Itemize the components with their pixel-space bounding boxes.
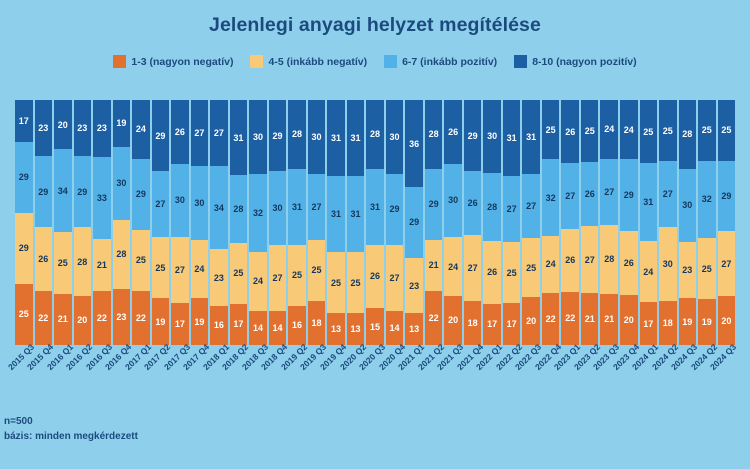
bar-segment-pos: 27 — [522, 174, 540, 238]
legend-item-label: 6-7 (inkább pozitív) — [402, 56, 497, 68]
bar-segment-neg: 24 — [249, 252, 267, 311]
bar-segment-neg: 26 — [620, 231, 638, 295]
bar-column[interactable]: 25292720 — [717, 100, 737, 345]
bar-segment-pos: 31 — [366, 169, 384, 245]
bar-column[interactable]: 25312417 — [639, 100, 659, 345]
bar-column[interactable]: 28292122 — [424, 100, 444, 345]
x-axis-tick: 2020 Q4 — [385, 345, 405, 407]
x-axis-tick: 2023 Q1 — [560, 345, 580, 407]
bar-segment-vpos: 23 — [35, 100, 53, 156]
bar-column[interactable]: 24272821 — [599, 100, 619, 345]
bar-segment-pos: 31 — [327, 176, 345, 252]
bar-segment-pos: 26 — [464, 171, 482, 235]
bar-segment-vpos: 25 — [718, 100, 736, 161]
bar-column[interactable]: 28312615 — [365, 100, 385, 345]
bar-segment-vpos: 25 — [659, 100, 677, 161]
bar-segment-pos: 30 — [444, 164, 462, 238]
x-axis-tick: 2021 Q2 — [424, 345, 444, 407]
bar-column[interactable]: 23332122 — [92, 100, 112, 345]
bar-segment-vneg: 17 — [503, 303, 521, 345]
bar-segment-vneg: 14 — [269, 311, 287, 345]
bar-segment-vpos: 20 — [54, 100, 72, 149]
x-axis-tick: 2019 Q4 — [326, 345, 346, 407]
bar-segment-vneg: 19 — [679, 298, 697, 345]
bar-segment-vpos: 31 — [230, 100, 248, 175]
bar-segment-vneg: 17 — [640, 302, 658, 345]
bar-segment-vneg: 19 — [152, 298, 170, 345]
x-axis-tick: 2018 Q4 — [268, 345, 288, 407]
bar-segment-neg: 26 — [483, 241, 501, 304]
bar-column[interactable]: 25322519 — [697, 100, 717, 345]
bar-segment-pos: 31 — [288, 169, 306, 245]
bar-segment-neg: 30 — [659, 227, 677, 301]
legend-item-vneg[interactable]: 1-3 (nagyon negatív) — [113, 55, 233, 68]
bar-segment-vpos: 28 — [366, 100, 384, 169]
bar-segment-neg: 26 — [35, 227, 53, 291]
bar-segment-vneg: 22 — [561, 292, 579, 345]
x-axis-tick: 2023 Q2 — [580, 345, 600, 407]
x-axis-tick: 2018 Q3 — [248, 345, 268, 407]
bar-column[interactable]: 29262718 — [463, 100, 483, 345]
bar-segment-neg: 25 — [132, 230, 150, 291]
bar-segment-vpos: 29 — [269, 100, 287, 171]
bar-segment-vpos: 25 — [698, 100, 716, 161]
bar-segment-neg: 25 — [54, 232, 72, 293]
bar-segment-neg: 24 — [640, 241, 658, 302]
bar-segment-vneg: 22 — [542, 293, 560, 345]
chart-container: Jelenlegi anyagi helyzet megítélése 1-3 … — [0, 0, 750, 469]
bar-column[interactable]: 20342521 — [53, 100, 73, 345]
bar-segment-neg: 27 — [269, 245, 287, 311]
bar-segment-vneg: 19 — [698, 299, 716, 345]
bar-segment-vpos: 25 — [542, 100, 560, 159]
bar-column[interactable]: 26272622 — [560, 100, 580, 345]
bar-segment-pos: 30 — [269, 171, 287, 245]
bar-segment-vpos: 30 — [308, 100, 326, 174]
bar-segment-vneg: 21 — [600, 294, 618, 345]
bar-segment-pos: 27 — [600, 159, 618, 225]
bar-segment-vneg: 20 — [444, 296, 462, 345]
bar-segment-vpos: 30 — [483, 100, 501, 173]
bar-segment-pos: 34 — [54, 149, 72, 232]
bar-segment-pos: 29 — [425, 169, 443, 240]
bar-segment-pos: 29 — [15, 142, 33, 213]
chart-legend: 1-3 (nagyon negatív)4-5 (inkább negatív)… — [0, 55, 750, 68]
bar-segment-vpos: 24 — [600, 100, 618, 159]
bar-segment-pos: 29 — [718, 161, 736, 231]
bar-column[interactable]: 25262721 — [580, 100, 600, 345]
legend-item-label: 4-5 (inkább negatív) — [268, 56, 367, 68]
bar-segment-vpos: 29 — [464, 100, 482, 171]
bar-segment-vneg: 17 — [483, 304, 501, 345]
bar-segment-neg: 24 — [444, 237, 462, 296]
bar-column[interactable]: 19302823 — [112, 100, 132, 345]
bar-column[interactable]: 31282517 — [229, 100, 249, 345]
bar-segment-vneg: 18 — [464, 301, 482, 345]
x-axis-tick: 2017 Q2 — [151, 345, 171, 407]
bar-segment-vneg: 16 — [288, 306, 306, 345]
bar-segment-neg: 25 — [230, 243, 248, 304]
x-axis-tick: 2022 Q1 — [482, 345, 502, 407]
bar-segment-vpos: 26 — [561, 100, 579, 163]
bar-segment-pos: 29 — [35, 156, 53, 227]
bar-segment-vpos: 19 — [113, 100, 131, 147]
bar-segment-neg: 27 — [386, 245, 404, 311]
page-title: Jelenlegi anyagi helyzet megítélése — [0, 0, 750, 37]
bar-segment-vpos: 28 — [679, 100, 697, 169]
bar-segment-vpos: 24 — [132, 100, 150, 159]
bar-segment-pos: 29 — [74, 156, 92, 227]
x-axis-tick: 2020 Q2 — [346, 345, 366, 407]
x-axis-tick: 2022 Q2 — [502, 345, 522, 407]
bar-column[interactable]: 26302420 — [443, 100, 463, 345]
bar-segment-pos: 28 — [483, 173, 501, 241]
bar-segment-neg: 23 — [679, 242, 697, 298]
x-axis-tick: 2016 Q2 — [73, 345, 93, 407]
bar-segment-neg: 25 — [503, 242, 521, 303]
bar-column[interactable]: 30282617 — [482, 100, 502, 345]
bar-column[interactable]: 26302717 — [170, 100, 190, 345]
bar-column[interactable]: 31312513 — [346, 100, 366, 345]
bar-segment-pos: 26 — [581, 162, 599, 226]
bar-segment-vneg: 22 — [425, 291, 443, 345]
bar-segment-vneg: 20 — [74, 296, 92, 345]
x-axis-tick: 2024 Q2 — [658, 345, 678, 407]
bar-column[interactable]: 24292522 — [131, 100, 151, 345]
bar-column[interactable]: 30272518 — [307, 100, 327, 345]
bar-segment-neg: 25 — [347, 252, 365, 313]
bar-column[interactable]: 36292313 — [404, 100, 424, 345]
bar-segment-pos: 27 — [152, 171, 170, 237]
legend-item-pos[interactable]: 6-7 (inkább pozitív) — [384, 55, 497, 68]
bar-segment-neg: 21 — [425, 240, 443, 291]
footer-sample-size: n=500 — [4, 414, 404, 429]
bar-segment-vneg: 22 — [93, 291, 111, 345]
bar-segment-vneg: 13 — [327, 313, 345, 345]
bar-segment-pos: 32 — [249, 174, 267, 252]
bar-segment-neg: 26 — [561, 229, 579, 292]
bar-segment-vpos: 31 — [327, 100, 345, 176]
x-axis-tick: 2017 Q4 — [190, 345, 210, 407]
bar-segment-vneg: 25 — [15, 284, 33, 345]
x-axis-tick: 2022 Q4 — [541, 345, 561, 407]
bar-segment-pos: 31 — [347, 176, 365, 252]
legend-swatch-icon — [113, 55, 126, 68]
bar-segment-pos: 33 — [93, 157, 111, 239]
bar-segment-neg: 25 — [698, 238, 716, 299]
x-axis-tick: 2023 Q4 — [619, 345, 639, 407]
bar-segment-vneg: 18 — [308, 301, 326, 345]
bar-column[interactable]: 27342316 — [209, 100, 229, 345]
x-axis-tick: 2017 Q3 — [170, 345, 190, 407]
bar-segment-vpos: 25 — [640, 100, 658, 163]
bar-segment-pos: 30 — [113, 147, 131, 221]
bar-segment-vpos: 23 — [74, 100, 92, 156]
bar-segment-neg: 26 — [366, 245, 384, 309]
footer-base-note: bázis: minden megkérdezett — [4, 429, 404, 444]
bar-segment-vpos: 28 — [425, 100, 443, 169]
legend-swatch-icon — [384, 55, 397, 68]
bar-segment-vneg: 18 — [659, 301, 677, 345]
bar-segment-neg: 25 — [522, 238, 540, 297]
bar-column[interactable]: 23292622 — [34, 100, 54, 345]
bar-segment-vpos: 24 — [620, 100, 638, 159]
bar-segment-vneg: 20 — [522, 297, 540, 345]
bar-column[interactable]: 30292714 — [385, 100, 405, 345]
bar-segment-vneg: 23 — [113, 289, 131, 345]
legend-item-label: 8-10 (nagyon pozitív) — [532, 56, 636, 68]
bar-segment-vpos: 29 — [152, 100, 170, 171]
bar-segment-vneg: 21 — [54, 294, 72, 345]
bar-segment-neg: 28 — [113, 220, 131, 289]
x-axis-tick: 2016 Q1 — [53, 345, 73, 407]
x-axis-tick: 2015 Q4 — [34, 345, 54, 407]
bar-segment-neg: 24 — [191, 240, 209, 299]
x-axis-tick: 2019 Q3 — [307, 345, 327, 407]
bar-segment-neg: 25 — [288, 245, 306, 306]
x-axis-tick: 2022 Q3 — [521, 345, 541, 407]
x-axis-tick: 2016 Q3 — [92, 345, 112, 407]
bar-segment-vneg: 15 — [366, 308, 384, 345]
x-axis-tick: 2021 Q4 — [463, 345, 483, 407]
bar-segment-neg: 27 — [718, 231, 736, 296]
bar-segment-vneg: 20 — [718, 296, 736, 345]
bar-segment-pos: 34 — [210, 166, 228, 249]
bar-segment-vneg: 22 — [132, 291, 150, 345]
x-axis-tick: 2023 Q3 — [599, 345, 619, 407]
bar-segment-vneg: 13 — [405, 313, 423, 345]
bar-segment-vpos: 30 — [249, 100, 267, 174]
bar-segment-vpos: 30 — [386, 100, 404, 174]
bar-segment-neg: 28 — [74, 227, 92, 296]
bar-column[interactable]: 24292620 — [619, 100, 639, 345]
bar-segment-vneg: 20 — [620, 295, 638, 344]
bar-segment-neg: 27 — [171, 237, 189, 303]
bar-segment-pos: 29 — [620, 159, 638, 231]
bar-segment-vpos: 27 — [210, 100, 228, 166]
bar-column[interactable]: 28302319 — [678, 100, 698, 345]
plot-area: 1729292523292622203425212329282023332122… — [14, 100, 736, 345]
bar-segment-neg: 27 — [581, 226, 599, 293]
bar-segment-pos: 29 — [132, 159, 150, 230]
x-axis-tick: 2021 Q1 — [404, 345, 424, 407]
bar-segment-vpos: 36 — [405, 100, 423, 187]
bar-segment-pos: 30 — [191, 166, 209, 240]
bar-column[interactable]: 30322414 — [248, 100, 268, 345]
bar-column[interactable]: 29272519 — [151, 100, 171, 345]
bar-segment-vpos: 17 — [15, 100, 33, 142]
x-axis-labels: 2015 Q32015 Q42016 Q12016 Q22016 Q32016 … — [14, 345, 736, 407]
bar-segment-vneg: 14 — [249, 311, 267, 345]
x-axis-tick: 2017 Q1 — [131, 345, 151, 407]
bar-segment-pos: 30 — [679, 169, 697, 243]
bar-segment-vpos: 31 — [347, 100, 365, 176]
bar-segment-neg: 29 — [15, 213, 33, 284]
x-axis-tick: 2024 Q1 — [639, 345, 659, 407]
legend-swatch-icon — [514, 55, 527, 68]
bar-segment-vpos: 27 — [191, 100, 209, 166]
bar-segment-pos: 32 — [698, 161, 716, 239]
bar-segment-vneg: 14 — [386, 311, 404, 345]
x-axis-tick: 2024 Q3 — [678, 345, 698, 407]
bar-segment-vpos: 28 — [288, 100, 306, 169]
x-axis-tick: 2016 Q4 — [112, 345, 132, 407]
bar-column[interactable]: 17292925 — [14, 100, 34, 345]
bar-segment-pos: 27 — [561, 163, 579, 228]
bar-segment-neg: 23 — [405, 258, 423, 314]
bar-segment-neg: 25 — [308, 240, 326, 301]
bar-segment-vneg: 16 — [210, 306, 228, 345]
chart-footer: n=500 bázis: minden megkérdezett — [4, 414, 404, 444]
bar-segment-neg: 27 — [464, 235, 482, 301]
x-axis-tick: 2015 Q3 — [14, 345, 34, 407]
x-axis-tick: 2018 Q2 — [229, 345, 249, 407]
x-axis-tick: 2020 Q3 — [365, 345, 385, 407]
legend-item-label: 1-3 (nagyon negatív) — [131, 56, 233, 68]
bar-column[interactable]: 31272520 — [521, 100, 541, 345]
x-axis-tick: 2019 Q2 — [287, 345, 307, 407]
bar-segment-vpos: 31 — [503, 100, 521, 176]
legend-item-vpos[interactable]: 8-10 (nagyon pozitív) — [514, 55, 636, 68]
bar-segment-pos: 29 — [386, 174, 404, 245]
legend-item-neg[interactable]: 4-5 (inkább negatív) — [250, 55, 367, 68]
bar-segment-neg: 25 — [152, 237, 170, 298]
bar-segment-vneg: 22 — [35, 291, 53, 345]
bar-segment-vneg: 17 — [230, 304, 248, 345]
bar-segment-neg: 21 — [93, 239, 111, 291]
bar-column[interactable]: 25273018 — [658, 100, 678, 345]
bar-segment-vpos: 26 — [171, 100, 189, 164]
bar-segment-vpos: 23 — [93, 100, 111, 157]
x-axis-tick: 2018 Q1 — [209, 345, 229, 407]
bar-segment-vneg: 17 — [171, 303, 189, 345]
bar-column[interactable]: 27302419 — [190, 100, 210, 345]
x-axis-tick: 2024 Q3 — [717, 345, 737, 407]
bar-segment-vpos: 31 — [522, 100, 540, 174]
bar-segment-pos: 27 — [503, 176, 521, 242]
bar-column[interactable]: 31272517 — [502, 100, 522, 345]
bar-segment-pos: 27 — [659, 161, 677, 227]
bar-segment-pos: 32 — [542, 159, 560, 235]
bar-segment-vpos: 25 — [581, 100, 599, 162]
bar-segment-pos: 28 — [230, 175, 248, 243]
bar-segment-pos: 29 — [405, 187, 423, 257]
bar-segment-pos: 27 — [308, 174, 326, 240]
bar-segment-vneg: 19 — [191, 298, 209, 345]
bar-segment-vneg: 21 — [581, 293, 599, 345]
bar-segment-vneg: 13 — [347, 313, 365, 345]
bar-segment-neg: 25 — [327, 252, 345, 313]
bar-column[interactable]: 28312516 — [287, 100, 307, 345]
bar-column[interactable]: 23292820 — [73, 100, 93, 345]
x-axis-tick: 2024 Q2 — [697, 345, 717, 407]
bar-segment-pos: 30 — [171, 164, 189, 238]
bar-segment-vpos: 26 — [444, 100, 462, 164]
legend-swatch-icon — [250, 55, 263, 68]
bar-segment-neg: 23 — [210, 249, 228, 305]
bar-segment-neg: 28 — [600, 225, 618, 294]
bar-column[interactable]: 25322422 — [541, 100, 561, 345]
bar-column[interactable]: 31312513 — [326, 100, 346, 345]
bar-segment-pos: 31 — [640, 163, 658, 241]
bar-column[interactable]: 29302714 — [268, 100, 288, 345]
bar-segment-neg: 24 — [542, 236, 560, 293]
x-axis-tick: 2021 Q3 — [443, 345, 463, 407]
